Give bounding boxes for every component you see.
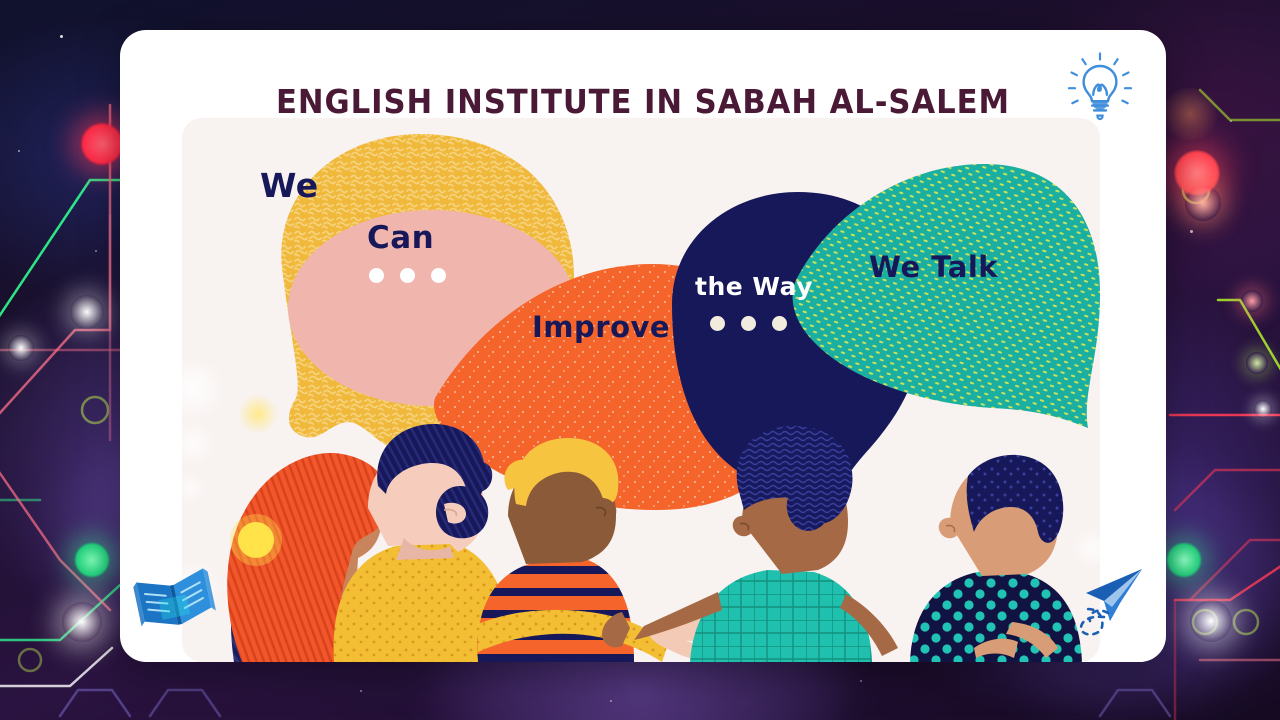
bubble-the-way-dots bbox=[710, 316, 787, 331]
bubble-can-dots bbox=[369, 268, 446, 283]
bubble-we-talk-label: We Talk bbox=[869, 250, 998, 284]
glow-orb bbox=[80, 122, 124, 166]
glow-orb bbox=[1160, 88, 1220, 140]
illustration-panel: We Can Improve the Way We Talk bbox=[182, 118, 1100, 662]
bubble-improve-label: Improve bbox=[532, 310, 670, 344]
people-illustration bbox=[182, 412, 1100, 662]
glow-orb bbox=[1246, 352, 1268, 374]
person-5 bbox=[910, 455, 1082, 662]
bubble-we-label: We bbox=[260, 166, 319, 205]
glow-orb bbox=[62, 602, 102, 642]
glow-orb bbox=[74, 542, 110, 578]
content-card: ENGLISH INSTITUTE IN SABAH AL-SALEM bbox=[120, 30, 1166, 662]
open-book-icon bbox=[128, 555, 220, 642]
person-3 bbox=[477, 438, 718, 662]
glow-orb bbox=[1185, 185, 1221, 221]
glow-orb bbox=[1254, 400, 1272, 418]
bubble-can-label: Can bbox=[367, 220, 434, 256]
page-title: ENGLISH INSTITUTE IN SABAH AL-SALEM bbox=[157, 82, 1130, 121]
glow-orb bbox=[8, 335, 34, 361]
glow-orb bbox=[1241, 290, 1263, 312]
person-4 bbox=[602, 426, 898, 662]
glow-orb bbox=[1190, 600, 1232, 642]
glow-orb bbox=[70, 295, 104, 329]
paper-plane-icon bbox=[1064, 559, 1156, 644]
bubble-the-way-label: the Way bbox=[695, 272, 813, 301]
glow-orb bbox=[1166, 542, 1202, 578]
